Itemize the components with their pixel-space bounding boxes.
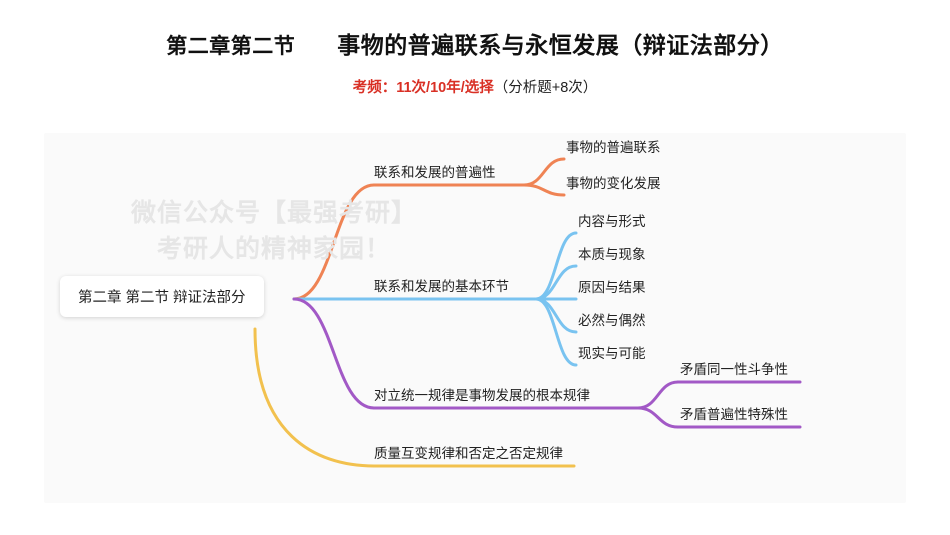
mindmap-node-branch-3-child-2[interactable]: 矛盾普遍性特殊性 bbox=[680, 408, 788, 426]
mindmap-node-branch-1-child-2[interactable]: 事物的变化发展 bbox=[566, 177, 661, 195]
edge-root-to-branch1 bbox=[294, 185, 374, 299]
mindmap-node-branch-2-child-4[interactable]: 必然与偶然 bbox=[578, 314, 646, 332]
mindmap-canvas: 微信公众号【最强考研】 考研人的精神家园！ 第二章 第二节 辩证法部分 联系和发… bbox=[44, 133, 906, 503]
edge-root-to-branch3 bbox=[294, 299, 374, 408]
mindmap-node-branch-3[interactable]: 对立统一规律是事物发展的根本规律 bbox=[374, 389, 590, 407]
frequency-value: 11次/10年/选择 bbox=[396, 80, 494, 96]
mindmap-root-node[interactable]: 第二章 第二节 辩证法部分 bbox=[60, 276, 264, 317]
frequency-extra: （分析题+8次） bbox=[494, 80, 598, 96]
title-row: 第二章第二节 事物的普遍联系与永恒发展（辩证法部分） bbox=[0, 26, 950, 60]
mindmap-node-branch-1-child-1[interactable]: 事物的普遍联系 bbox=[566, 141, 661, 159]
edge-branch1-child2 bbox=[524, 185, 564, 195]
edge-branch1-child1 bbox=[524, 159, 564, 185]
mindmap-node-branch-2-child-1[interactable]: 内容与形式 bbox=[578, 215, 646, 233]
mindmap-node-branch-2-child-3[interactable]: 原因与结果 bbox=[578, 281, 646, 299]
edge-branch3-child1 bbox=[638, 382, 678, 408]
frequency-label: 考频： bbox=[353, 80, 397, 96]
page-header: 第二章第二节 事物的普遍联系与永恒发展（辩证法部分） 考频：11次/10年/选择… bbox=[0, 26, 950, 97]
mindmap-node-branch-2[interactable]: 联系和发展的基本环节 bbox=[374, 280, 509, 298]
page-title: 事物的普遍联系与永恒发展（辩证法部分） bbox=[337, 26, 784, 60]
mindmap-node-branch-3-child-1[interactable]: 矛盾同一性斗争性 bbox=[680, 363, 788, 381]
chapter-label: 第二章第二节 bbox=[166, 30, 295, 60]
frequency-line: 考频：11次/10年/选择（分析题+8次） bbox=[0, 76, 950, 97]
mindmap-node-branch-1[interactable]: 联系和发展的普遍性 bbox=[374, 166, 496, 184]
mindmap-node-branch-4[interactable]: 质量互变规律和否定之否定规律 bbox=[374, 447, 563, 465]
mindmap-node-branch-2-child-5[interactable]: 现实与可能 bbox=[578, 347, 646, 365]
mindmap-node-branch-2-child-2[interactable]: 本质与现象 bbox=[578, 248, 646, 266]
edge-branch3-child2 bbox=[638, 408, 678, 427]
